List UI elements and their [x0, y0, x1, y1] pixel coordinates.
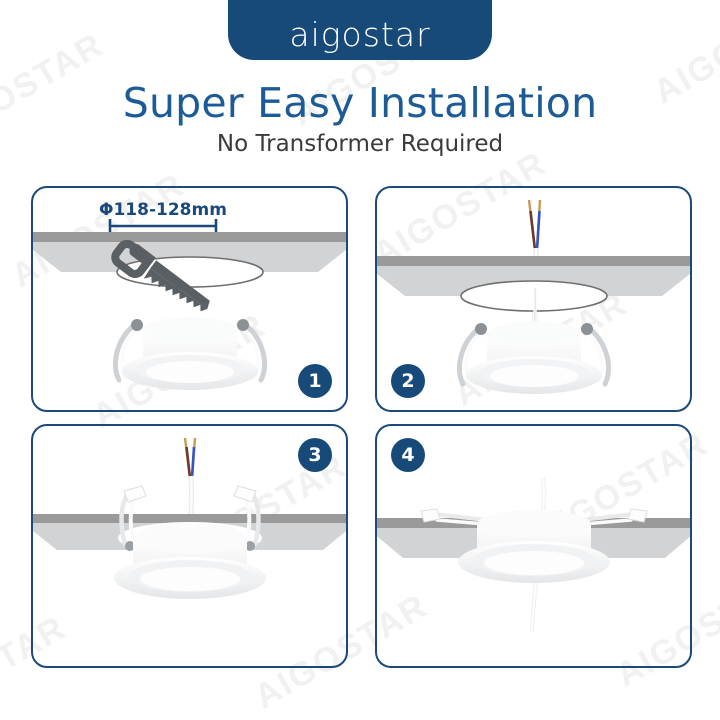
dimension-label: Φ118-128mm: [99, 200, 227, 220]
page-subtitle: No Transformer Required: [0, 131, 720, 157]
step-4-illustration: [377, 426, 690, 666]
step-badge-2: 2: [391, 364, 425, 398]
step-panel-1: Φ118-128mm: [31, 186, 348, 412]
step-panel-3: 3: [31, 424, 348, 668]
ceiling-slab: [33, 232, 346, 287]
downlight-fixture-installed: [458, 510, 610, 583]
installation-infographic: AIGOSTARAIGOSTARAIGOSTARAIGOSTAR AIGOSTA…: [0, 0, 720, 720]
page-title: Super Easy Installation: [0, 79, 720, 127]
mains-cable-conductors: [529, 200, 540, 250]
step-panel-4: 4: [375, 424, 692, 668]
mains-cable-conductors: [185, 438, 195, 478]
brand-logo-text: aigostar: [289, 18, 430, 51]
step-panel-2: 2: [375, 186, 692, 412]
dimension-line: [110, 219, 216, 232]
step-badge-3: 3: [298, 438, 332, 472]
step-badge-4: 4: [391, 438, 425, 472]
downlight-fixture: [114, 523, 266, 599]
downlight-fixture: [115, 317, 264, 390]
step-badge-1: 1: [298, 364, 332, 398]
ceiling-slab: [377, 256, 690, 311]
downlight-fixture: [459, 321, 608, 394]
brand-logo-banner: aigostar: [228, 0, 492, 60]
